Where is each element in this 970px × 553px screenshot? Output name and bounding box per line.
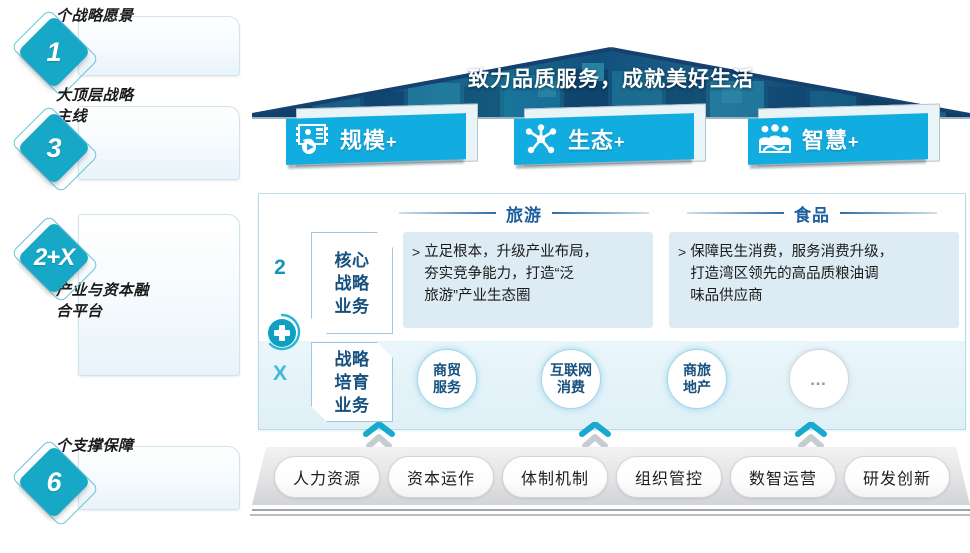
row-markers: 2 X <box>259 194 301 429</box>
support-pill-label: 数智运营 <box>749 465 817 489</box>
bubble-label: 商旅 地产 <box>683 362 711 396</box>
pillar-label: 生态+ <box>568 123 626 155</box>
support-pill-hr[interactable]: 人力资源 <box>274 456 380 498</box>
section-header-tourism: 旅游 <box>399 202 649 224</box>
legend-diamond: 1 <box>18 16 92 90</box>
support-pill-label: 资本运作 <box>407 465 475 489</box>
incubation-card[interactable]: 战略 培育 业务 <box>311 342 393 422</box>
support-pill-system[interactable]: 体制机制 <box>502 456 608 498</box>
pillar-badge-wisdom[interactable]: 智慧+ <box>748 112 938 170</box>
media-screen-play-icon <box>286 123 340 155</box>
core-strategy-card[interactable]: 核心 战略 业务 <box>311 232 393 334</box>
support-pill-label: 人力资源 <box>293 465 361 489</box>
pillar-label: 智慧+ <box>802 123 860 155</box>
support-pill-label: 体制机制 <box>521 465 589 489</box>
tourism-description: > 立足根本，升级产业布局， 夯实竞争能力，打造“泛 旅游”产业生态圈 <box>403 232 653 328</box>
legend-number: 1 <box>18 16 90 88</box>
pillar-label: 规模+ <box>340 123 398 155</box>
badge-body: 智慧+ <box>748 113 928 165</box>
support-pill-label: 组织管控 <box>635 465 703 489</box>
business-bubble-internet[interactable]: 互联网 消费 <box>541 349 601 409</box>
business-bubble-travel-realestate[interactable]: 商旅 地产 <box>667 349 727 409</box>
legend-diamond: 3 <box>18 112 92 186</box>
description-text: 保障民生消费，服务消费升级， 打造湾区领先的高品质粮油调 味品供应商 <box>690 241 893 307</box>
plus-circle-icon <box>262 312 302 352</box>
legend-diamond: 6 <box>18 446 92 520</box>
core-strategy-card-label: 核心 战略 业务 <box>335 249 370 318</box>
legend-number: 3 <box>18 112 90 184</box>
badge-body: 生态+ <box>514 113 694 165</box>
chevron-up-icon <box>362 422 396 448</box>
bubble-label: 商贸 服务 <box>433 362 461 396</box>
house-body-panel: 2 X 旅游 食品 核心 战略 业务 <box>258 193 966 430</box>
support-pill-org[interactable]: 组织管控 <box>616 456 722 498</box>
pillar-badge-scale[interactable]: 规模+ <box>286 112 476 170</box>
chevron-up-icon <box>578 422 612 448</box>
rule-left <box>399 212 496 214</box>
legend-number: 6 <box>18 446 90 518</box>
support-pill-label: 研发创新 <box>863 465 931 489</box>
people-handshake-icon <box>748 124 802 154</box>
pillar-badges: 规模+ <box>252 112 970 174</box>
description-text: 立足根本，升级产业布局， 夯实竞争能力，打造“泛 旅游”产业生态圈 <box>424 241 598 307</box>
legend-number: 2+X <box>18 222 90 294</box>
support-pill-rnd[interactable]: 研发创新 <box>844 456 950 498</box>
section-title: 旅游 <box>506 201 542 226</box>
network-hub-icon <box>514 124 568 154</box>
food-description: > 保障民生消费，服务消费升级， 打造湾区领先的高品质粮油调 味品供应商 <box>669 232 959 328</box>
rule-right <box>840 212 937 214</box>
bubble-label: 互联网 消费 <box>550 362 592 396</box>
marker-two: 2 <box>259 256 301 280</box>
floor-line <box>252 509 970 511</box>
chevron-up-icon <box>794 422 828 448</box>
bubble-label: … <box>810 371 829 388</box>
incubation-card-label: 战略 培育 业务 <box>335 348 370 417</box>
strategy-house-diagram: 个战略愿景 1 大顶层战略 主线 3 产业与资本融 合平台 2+X 个支撑保障 <box>0 0 970 553</box>
support-base: 人力资源 资本运作 体制机制 组织管控 数智运营 研发创新 <box>252 447 970 509</box>
rule-left <box>687 212 784 214</box>
business-bubble-more[interactable]: … <box>789 349 849 409</box>
support-pill-capital[interactable]: 资本运作 <box>388 456 494 498</box>
section-header-food: 食品 <box>687 202 937 224</box>
bullet-marker: > <box>678 241 686 307</box>
bullet-marker: > <box>412 241 420 307</box>
legend-diamond: 2+X <box>18 222 92 296</box>
badge-body: 规模+ <box>286 113 466 165</box>
pillar-badge-ecology[interactable]: 生态+ <box>514 112 704 170</box>
support-pill-digital[interactable]: 数智运营 <box>730 456 836 498</box>
section-title: 食品 <box>794 201 830 226</box>
rule-right <box>552 212 649 214</box>
floor-line <box>250 514 970 516</box>
business-bubble-trade[interactable]: 商贸 服务 <box>417 349 477 409</box>
roof-title: 致力品质服务，成就美好生活 <box>252 63 970 93</box>
marker-x: X <box>259 362 301 386</box>
